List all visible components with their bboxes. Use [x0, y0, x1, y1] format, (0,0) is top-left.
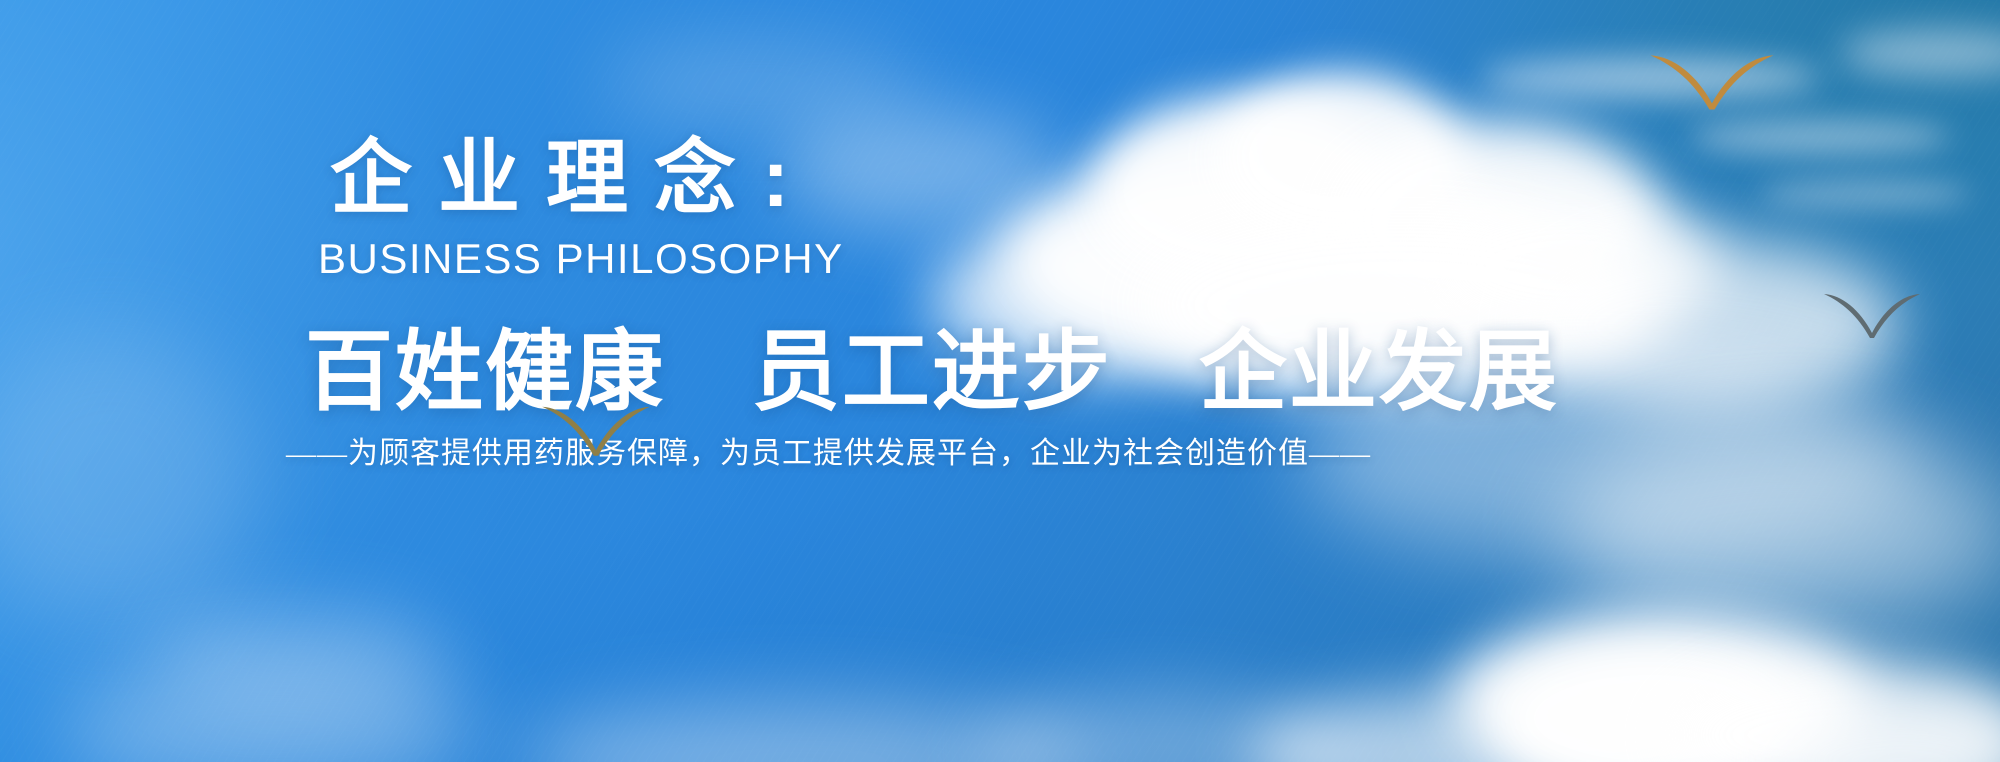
headline-segment-3: 企业发展 [1199, 322, 1559, 421]
page-subtitle-english: BUSINESS PHILOSOPHY [318, 238, 844, 280]
headline: 百姓健康 员工进步 企业发展 [305, 328, 1559, 416]
headline-segment-1: 百姓健康 [305, 322, 665, 421]
headline-segment-2: 员工进步 [752, 322, 1112, 421]
tagline: ——为顾客提供用药服务保障，为员工提供发展平台，企业为社会创造价值—— [286, 437, 1371, 470]
business-philosophy-banner: 企业理念: BUSINESS PHILOSOPHY 百姓健康 员工进步 企业发展… [0, 0, 2000, 762]
page-title-chinese: 企业理念: [330, 138, 815, 220]
banner-content: 企业理念: BUSINESS PHILOSOPHY 百姓健康 员工进步 企业发展… [0, 0, 2000, 762]
